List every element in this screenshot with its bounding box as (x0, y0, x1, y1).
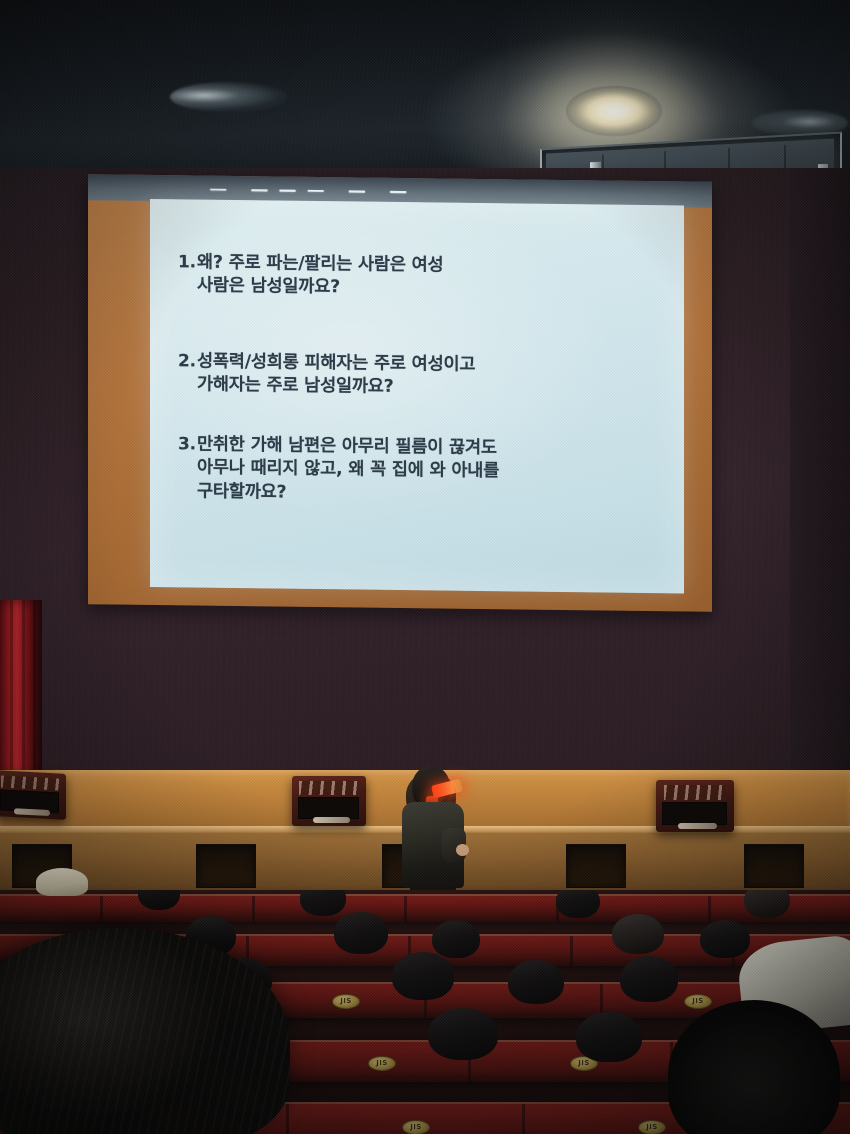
slide-content: 1. 왜? 주로 파는/팔리는 사람은 여성 사람은 남성일까요? 2. 성폭력… (178, 251, 664, 577)
monitor-feet (678, 823, 717, 829)
ceiling-light-left-icon (170, 82, 288, 112)
seat-number-plate: JIS (638, 1120, 666, 1134)
seat-number-plate: JIS (332, 994, 360, 1009)
stage-monitor-right (656, 780, 734, 832)
stage-monitor-center-left (292, 776, 366, 826)
stage-panel-5 (744, 844, 804, 888)
monitor-slats (1, 775, 59, 791)
audience-head (612, 914, 664, 954)
monitor-feet (14, 808, 50, 816)
stage-monitor-left (0, 770, 66, 820)
back-wall-right (790, 168, 850, 790)
audience-head (508, 960, 564, 1004)
question-1-number: 1. (178, 251, 196, 274)
audience-head (620, 956, 678, 1002)
audience-head (700, 920, 750, 958)
audience-head (428, 1008, 498, 1060)
audience-head (334, 912, 388, 954)
presenter-hand (456, 844, 469, 856)
seat-number-plate: JIS (684, 994, 712, 1009)
seat-number-plate: JIS (368, 1056, 396, 1071)
monitor-grille (298, 797, 359, 819)
stage-panel-2 (196, 844, 256, 888)
monitor-grille (662, 802, 726, 825)
monitor-slats (664, 785, 726, 800)
projection-screen: ㄴ ㄹㄹㄴ ㄹ ㄹ 1. 왜? 주로 파는/팔리는 사람은 여성 사람은 남성일… (88, 174, 712, 612)
audience-head (432, 920, 480, 958)
monitor-feet (313, 817, 350, 823)
seat-number-plate: JIS (402, 1120, 430, 1134)
auditorium-photo: ㄴ ㄹㄹㄴ ㄹ ㄹ 1. 왜? 주로 파는/팔리는 사람은 여성 사람은 남성일… (0, 0, 850, 1134)
question-2-number: 2. (178, 350, 196, 373)
monitor-slats (299, 781, 358, 795)
audience-head (556, 890, 600, 918)
slide-surface: 1. 왜? 주로 파는/팔리는 사람은 여성 사람은 남성일까요? 2. 성폭력… (150, 199, 684, 594)
slide-question-1: 1. 왜? 주로 파는/팔리는 사람은 여성 사람은 남성일까요? (178, 251, 664, 304)
seat-row (0, 894, 850, 922)
slide-question-2: 2. 성폭력/성희롱 피해자는 주로 여성이고 가해자는 주로 남성일까요? (178, 350, 664, 403)
question-3-number: 3. (178, 433, 196, 456)
audience-head (576, 1012, 642, 1062)
audience-head (392, 952, 454, 1000)
ceiling-light-center-icon (566, 86, 662, 136)
question-3-text: 만취한 가해 남편은 아무리 필름이 끊겨도 아무나 때리지 않고, 왜 꼭 집… (178, 433, 664, 509)
stage-panel-4 (566, 844, 626, 888)
slide-question-3: 3. 만취한 가해 남편은 아무리 필름이 끊겨도 아무나 때리지 않고, 왜 … (178, 433, 664, 509)
slide-title-text: ㄴ ㄹㄹㄴ ㄹ ㄹ (206, 189, 506, 198)
question-1-text: 왜? 주로 파는/팔리는 사람은 여성 사람은 남성일까요? (178, 251, 664, 304)
question-2-text: 성폭력/성희롱 피해자는 주로 여성이고 가해자는 주로 남성일까요? (178, 350, 664, 403)
audience-cap (36, 868, 88, 896)
audience-head (744, 890, 790, 918)
